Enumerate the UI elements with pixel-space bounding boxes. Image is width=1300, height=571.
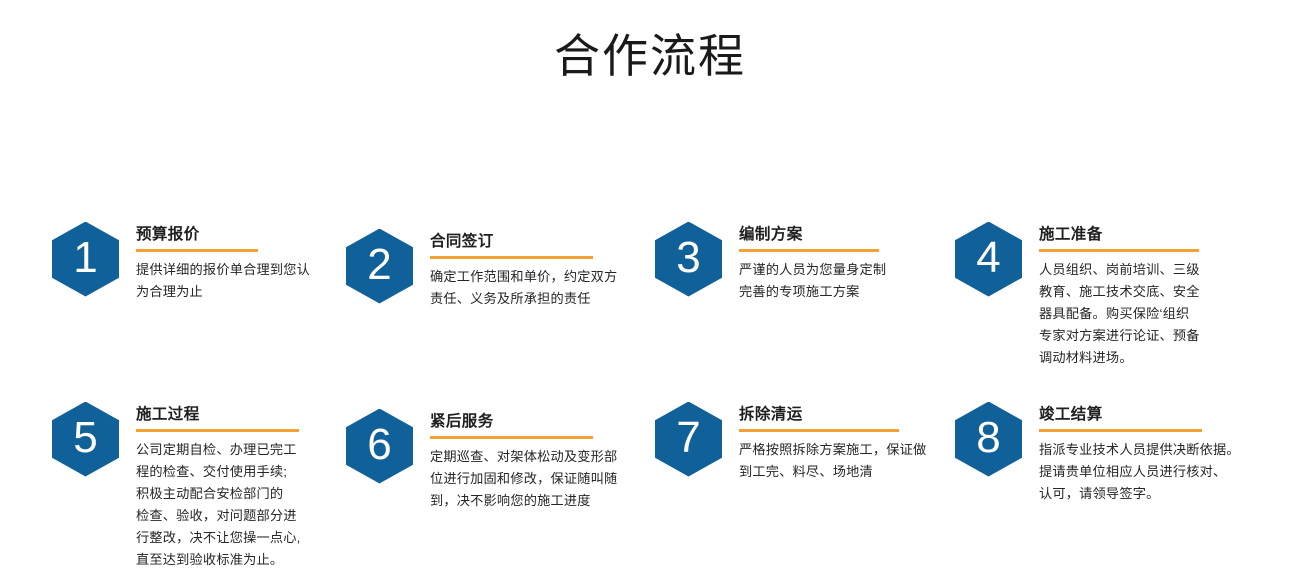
step-description-line: 确定工作范围和单价，约定双方	[430, 266, 646, 288]
hexagon-shape: 7	[655, 402, 722, 477]
step-content-5: 施工过程 公司定期自检、办理已完工 程的检查、交付使用手续; 积极主动配合安检部…	[119, 402, 342, 571]
step-description-line: 完善的专项施工方案	[739, 281, 950, 303]
step-description: 严谨的人员为您量身定制 完善的专项施工方案	[739, 259, 950, 303]
step-heading: 合同签订	[430, 232, 646, 251]
step-description-line: 器具配备。购买保险‘组织	[1039, 303, 1255, 325]
step-number: 7	[676, 416, 700, 460]
step-number: 6	[367, 423, 391, 467]
hexagon-shape: 4	[955, 222, 1022, 297]
step-underline-rule	[430, 436, 593, 439]
step-underline-rule	[136, 429, 299, 432]
step-description-line: 认可，请领导签字。	[1039, 483, 1265, 505]
step-number-badge-4: 4	[955, 222, 1022, 297]
hexagon-shape: 2	[346, 229, 413, 304]
step-content-6: 紧后服务 定期巡查、对架体松动及变形部 位进行加固和修改，保证随叫随 到，决不影…	[413, 409, 646, 512]
step-description-line: 提供详细的报价单合理到您认	[136, 259, 342, 281]
hexagon-shape: 3	[655, 222, 722, 297]
step-description: 提供详细的报价单合理到您认 为合理为止	[136, 259, 342, 303]
step-description: 确定工作范围和单价，约定双方 责任、义务及所承担的责任	[430, 266, 646, 310]
step-content-2: 合同签订 确定工作范围和单价，约定双方 责任、义务及所承担的责任	[413, 229, 646, 310]
process-step-1[interactable]: 1 预算报价 提供详细的报价单合理到您认 为合理为止	[52, 222, 342, 303]
step-number: 8	[976, 416, 1000, 460]
step-heading: 紧后服务	[430, 412, 646, 431]
step-description-line: 定期巡查、对架体松动及变形部	[430, 446, 646, 468]
step-number-badge-3: 3	[655, 222, 722, 297]
step-content-7: 拆除清运 严格按照拆除方案施工，保证做 到工完、料尽、场地清	[722, 402, 950, 483]
step-number-badge-2: 2	[346, 229, 413, 304]
step-number: 5	[73, 416, 97, 460]
step-number: 2	[367, 243, 391, 287]
step-number-badge-5: 5	[52, 402, 119, 477]
step-description-line: 检查、验收，对问题部分进	[136, 505, 342, 527]
step-number-badge-1: 1	[52, 222, 119, 297]
process-step-4[interactable]: 4 施工准备 人员组织、岗前培训、三级 教育、施工技术交底、安全 器具配备。购买…	[955, 222, 1255, 369]
step-description-line: 到工完、料尽、场地清	[739, 461, 950, 483]
step-description-line: 为合理为止	[136, 281, 342, 303]
step-heading: 拆除清运	[739, 405, 950, 424]
step-heading: 预算报价	[136, 225, 342, 244]
step-description-line: 位进行加固和修改，保证随叫随	[430, 468, 646, 490]
process-step-7[interactable]: 7 拆除清运 严格按照拆除方案施工，保证做 到工完、料尽、场地清	[655, 402, 950, 483]
step-underline-rule	[430, 256, 593, 259]
step-description-line: 教育、施工技术交底、安全	[1039, 281, 1255, 303]
step-heading: 施工准备	[1039, 225, 1255, 244]
hexagon-shape: 6	[346, 409, 413, 484]
process-step-5[interactable]: 5 施工过程 公司定期自检、办理已完工 程的检查、交付使用手续; 积极主动配合安…	[52, 402, 342, 571]
step-number-badge-7: 7	[655, 402, 722, 477]
process-step-6[interactable]: 6 紧后服务 定期巡查、对架体松动及变形部 位进行加固和修改，保证随叫随 到，决…	[346, 409, 646, 512]
process-step-2[interactable]: 2 合同签订 确定工作范围和单价，约定双方 责任、义务及所承担的责任	[346, 229, 646, 310]
page-title: 合作流程	[0, 0, 1300, 86]
step-underline-rule	[1039, 249, 1199, 252]
step-number: 3	[676, 236, 700, 280]
step-content-8: 竣工结算 指派专业技术人员提供决断依据。 提请贵单位相应人员进行核对、 认可，请…	[1022, 402, 1265, 505]
step-description-line: 调动材料进场。	[1039, 347, 1255, 369]
step-description: 公司定期自检、办理已完工 程的检查、交付使用手续; 积极主动配合安检部门的 检查…	[136, 439, 342, 571]
step-content-4: 施工准备 人员组织、岗前培训、三级 教育、施工技术交底、安全 器具配备。购买保险…	[1022, 222, 1255, 369]
step-description-line: 严谨的人员为您量身定制	[739, 259, 950, 281]
hexagon-shape: 8	[955, 402, 1022, 477]
step-description-line: 到，决不影响您的施工进度	[430, 490, 646, 512]
step-number-badge-6: 6	[346, 409, 413, 484]
step-number: 4	[976, 236, 1000, 280]
step-description: 人员组织、岗前培训、三级 教育、施工技术交底、安全 器具配备。购买保险‘组织 专…	[1039, 259, 1255, 369]
step-underline-rule	[739, 429, 899, 432]
step-heading: 编制方案	[739, 225, 950, 244]
step-underline-rule	[1039, 429, 1202, 432]
step-underline-rule	[136, 249, 258, 252]
step-heading: 施工过程	[136, 405, 342, 424]
step-content-3: 编制方案 严谨的人员为您量身定制 完善的专项施工方案	[722, 222, 950, 303]
step-description-line: 直至达到验收标准为止。	[136, 549, 342, 571]
step-underline-rule	[739, 249, 879, 252]
step-description-line: 积极主动配合安检部门的	[136, 483, 342, 505]
step-content-1: 预算报价 提供详细的报价单合理到您认 为合理为止	[119, 222, 342, 303]
hexagon-shape: 5	[52, 402, 119, 477]
process-step-8[interactable]: 8 竣工结算 指派专业技术人员提供决断依据。 提请贵单位相应人员进行核对、 认可…	[955, 402, 1265, 505]
step-description-line: 责任、义务及所承担的责任	[430, 288, 646, 310]
step-description: 定期巡查、对架体松动及变形部 位进行加固和修改，保证随叫随 到，决不影响您的施工…	[430, 446, 646, 512]
hexagon-shape: 1	[52, 222, 119, 297]
step-description-line: 人员组织、岗前培训、三级	[1039, 259, 1255, 281]
step-description-line: 公司定期自检、办理已完工	[136, 439, 342, 461]
step-description-line: 程的检查、交付使用手续;	[136, 461, 342, 483]
step-description-line: 行整改，决不让您操一点心,	[136, 527, 342, 549]
step-description: 严格按照拆除方案施工，保证做 到工完、料尽、场地清	[739, 439, 950, 483]
process-step-3[interactable]: 3 编制方案 严谨的人员为您量身定制 完善的专项施工方案	[655, 222, 950, 303]
step-number: 1	[73, 236, 97, 280]
step-description-line: 严格按照拆除方案施工，保证做	[739, 439, 950, 461]
step-description-line: 指派专业技术人员提供决断依据。	[1039, 439, 1265, 461]
step-heading: 竣工结算	[1039, 405, 1265, 424]
step-number-badge-8: 8	[955, 402, 1022, 477]
step-description: 指派专业技术人员提供决断依据。 提请贵单位相应人员进行核对、 认可，请领导签字。	[1039, 439, 1265, 505]
step-description-line: 提请贵单位相应人员进行核对、	[1039, 461, 1265, 483]
step-description-line: 专家对方案进行论证、预备	[1039, 325, 1255, 347]
